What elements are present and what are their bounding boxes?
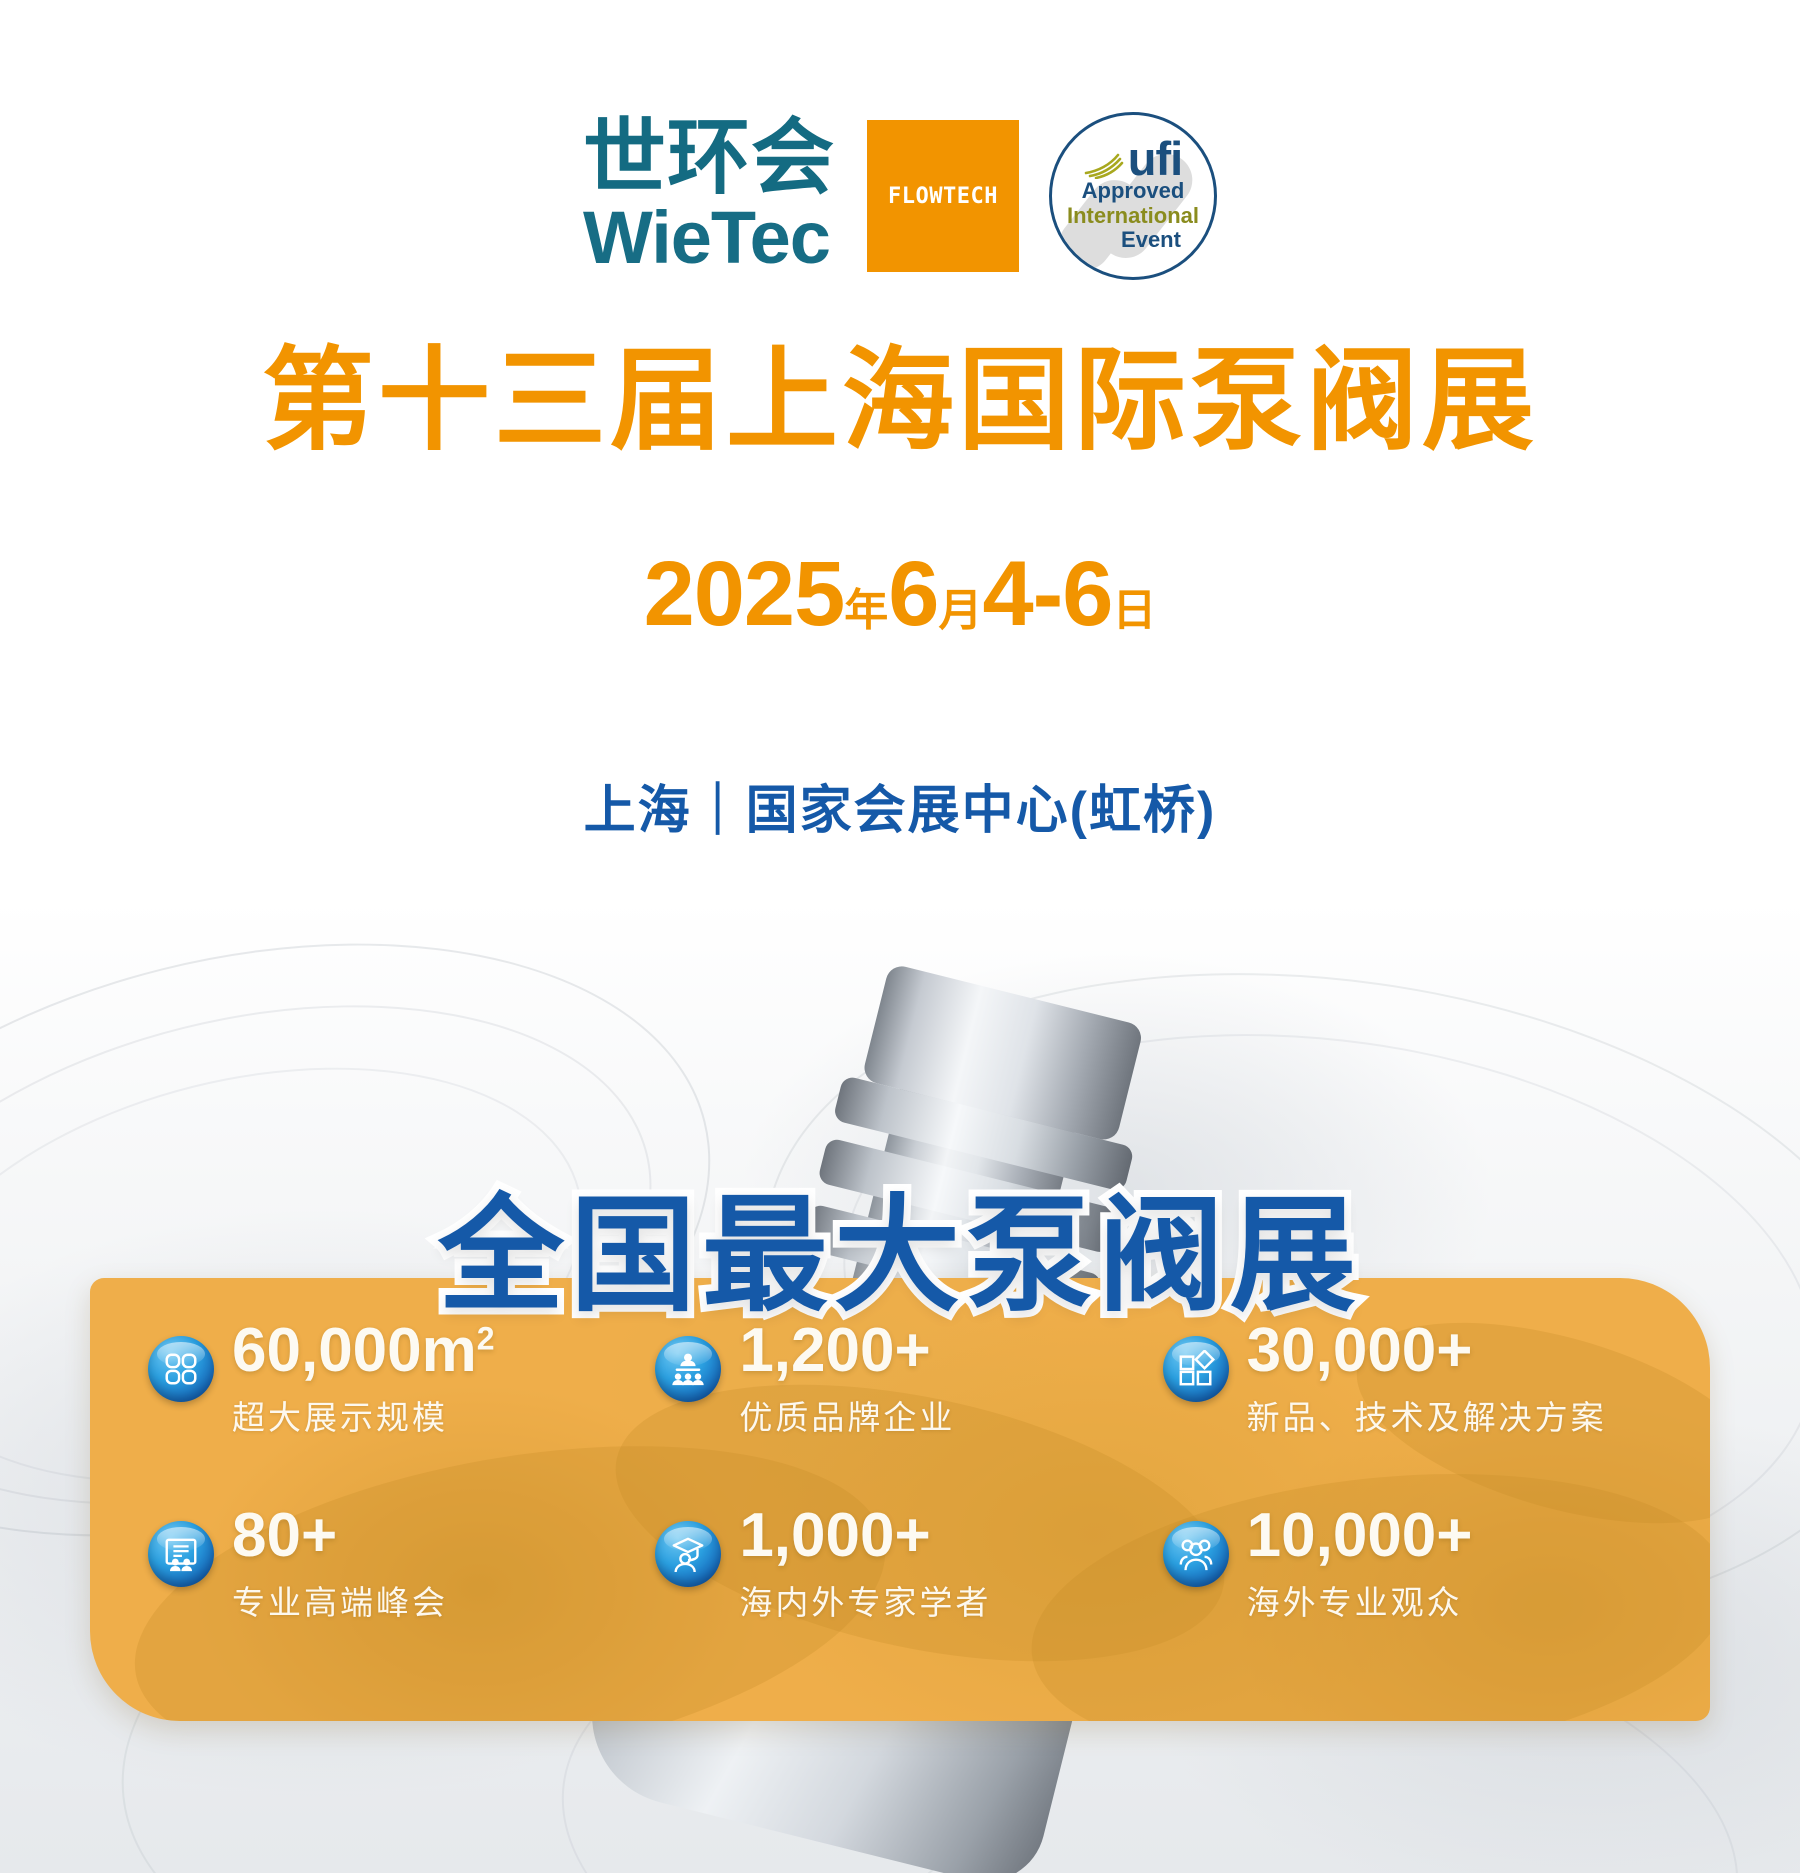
venue-line: 上海｜国家会展中心(虹桥) (0, 768, 1800, 843)
ufi-line-event: Event (1121, 228, 1181, 253)
stat-label: 优质品牌企业 (739, 1391, 955, 1439)
stat-item-solutions: 30,000+ 新品、技术及解决方案 (1163, 1320, 1656, 1501)
stat-label: 海内外专家学者 (739, 1576, 991, 1624)
poster-root: 世环会 WieTec FLOWTECH (0, 0, 1800, 1873)
stat-value: 30,000+ (1247, 1320, 1607, 1382)
date-days: 4-6 (982, 543, 1112, 645)
ufi-approved-badge: ufi Approved International Event (1049, 112, 1217, 280)
date-month-unit: 月 (938, 586, 982, 635)
stat-item-overseas-visitors: 10,000+ 海外专业观众 (1163, 1505, 1656, 1686)
modules-icon (1163, 1336, 1229, 1402)
presenter-icon (655, 1336, 721, 1402)
stats-grid: 60,000m2 超大展示规模 1,200+ (90, 1278, 1710, 1721)
stat-label: 专业高端峰会 (232, 1576, 448, 1624)
stat-item-brands: 1,200+ 优质品牌企业 (655, 1320, 1148, 1501)
stat-label: 新品、技术及解决方案 (1247, 1391, 1607, 1439)
ufi-wordmark: ufi (1128, 139, 1182, 179)
clover-icon (148, 1336, 214, 1402)
ufi-line-international: International (1067, 204, 1199, 229)
date-year: 2025 (644, 543, 845, 645)
stat-item-summits: 80+ 专业高端峰会 (148, 1505, 641, 1686)
brand-name-cn: 世环会 (583, 117, 835, 198)
date-day-unit: 日 (1112, 586, 1156, 635)
certificate-icon (148, 1521, 214, 1587)
graduate-icon (655, 1521, 721, 1587)
stat-value: 1,000+ (739, 1505, 991, 1567)
stat-value: 1,200+ (739, 1320, 955, 1382)
ufi-swoosh-icon (1084, 149, 1126, 179)
stat-value: 10,000+ (1247, 1505, 1473, 1567)
stat-label: 海外专业观众 (1247, 1576, 1473, 1624)
header-section: 世环会 WieTec FLOWTECH (0, 0, 1800, 900)
ufi-line-approved: Approved (1082, 179, 1185, 204)
audience-icon (1163, 1521, 1229, 1587)
date-year-unit: 年 (844, 586, 888, 635)
event-date-line: 2025年6月4-6日 (0, 548, 1800, 640)
date-month: 6 (888, 543, 938, 645)
wietec-logo: 世环会 WieTec (583, 117, 835, 276)
stat-value: 80+ (232, 1505, 448, 1567)
stat-item-exhibition-area: 60,000m2 超大展示规模 (148, 1320, 641, 1501)
flowtech-label: FLOWTECH (888, 184, 998, 209)
stat-item-experts: 1,000+ 海内外专家学者 (655, 1505, 1148, 1686)
page-title: 第十三届上海国际泵阀展 (0, 338, 1800, 463)
brand-name-en: WieTec (583, 200, 830, 275)
stat-label: 超大展示规模 (232, 1391, 495, 1439)
flowtech-logo: FLOWTECH (867, 120, 1019, 272)
stat-value: 60,000m2 (232, 1320, 495, 1382)
stats-card: 60,000m2 超大展示规模 1,200+ (90, 1278, 1710, 1721)
logo-row: 世环会 WieTec FLOWTECH (0, 112, 1800, 280)
